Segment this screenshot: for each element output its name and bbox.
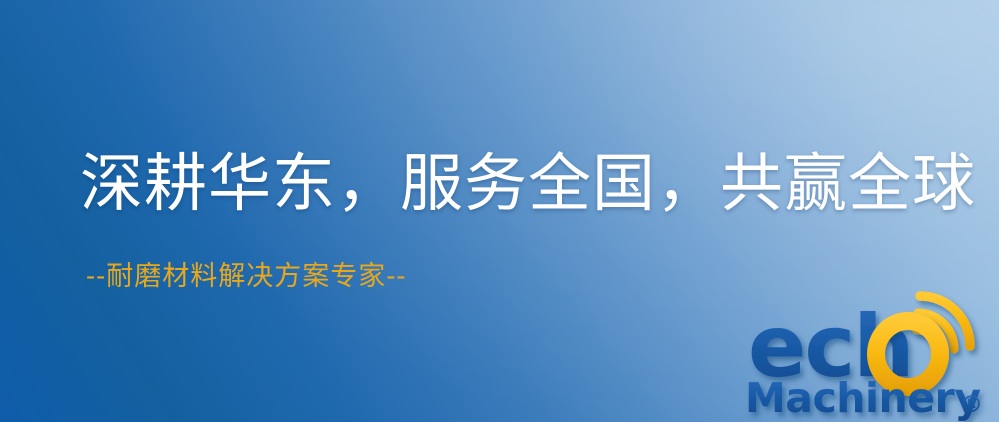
- logo-tagline: Machinery: [745, 374, 980, 422]
- banner-subtitle: --耐磨材料解决方案专家--: [86, 263, 407, 290]
- banner-headline: 深耕华东，服务全国，共赢全球: [80, 152, 976, 215]
- hero-banner: 深耕华东，服务全国，共赢全球 --耐磨材料解决方案专家--: [0, 0, 999, 422]
- logo-registered-mark: ®: [960, 392, 983, 418]
- echo-machinery-logo[interactable]: ech Machinery ®: [742, 288, 999, 422]
